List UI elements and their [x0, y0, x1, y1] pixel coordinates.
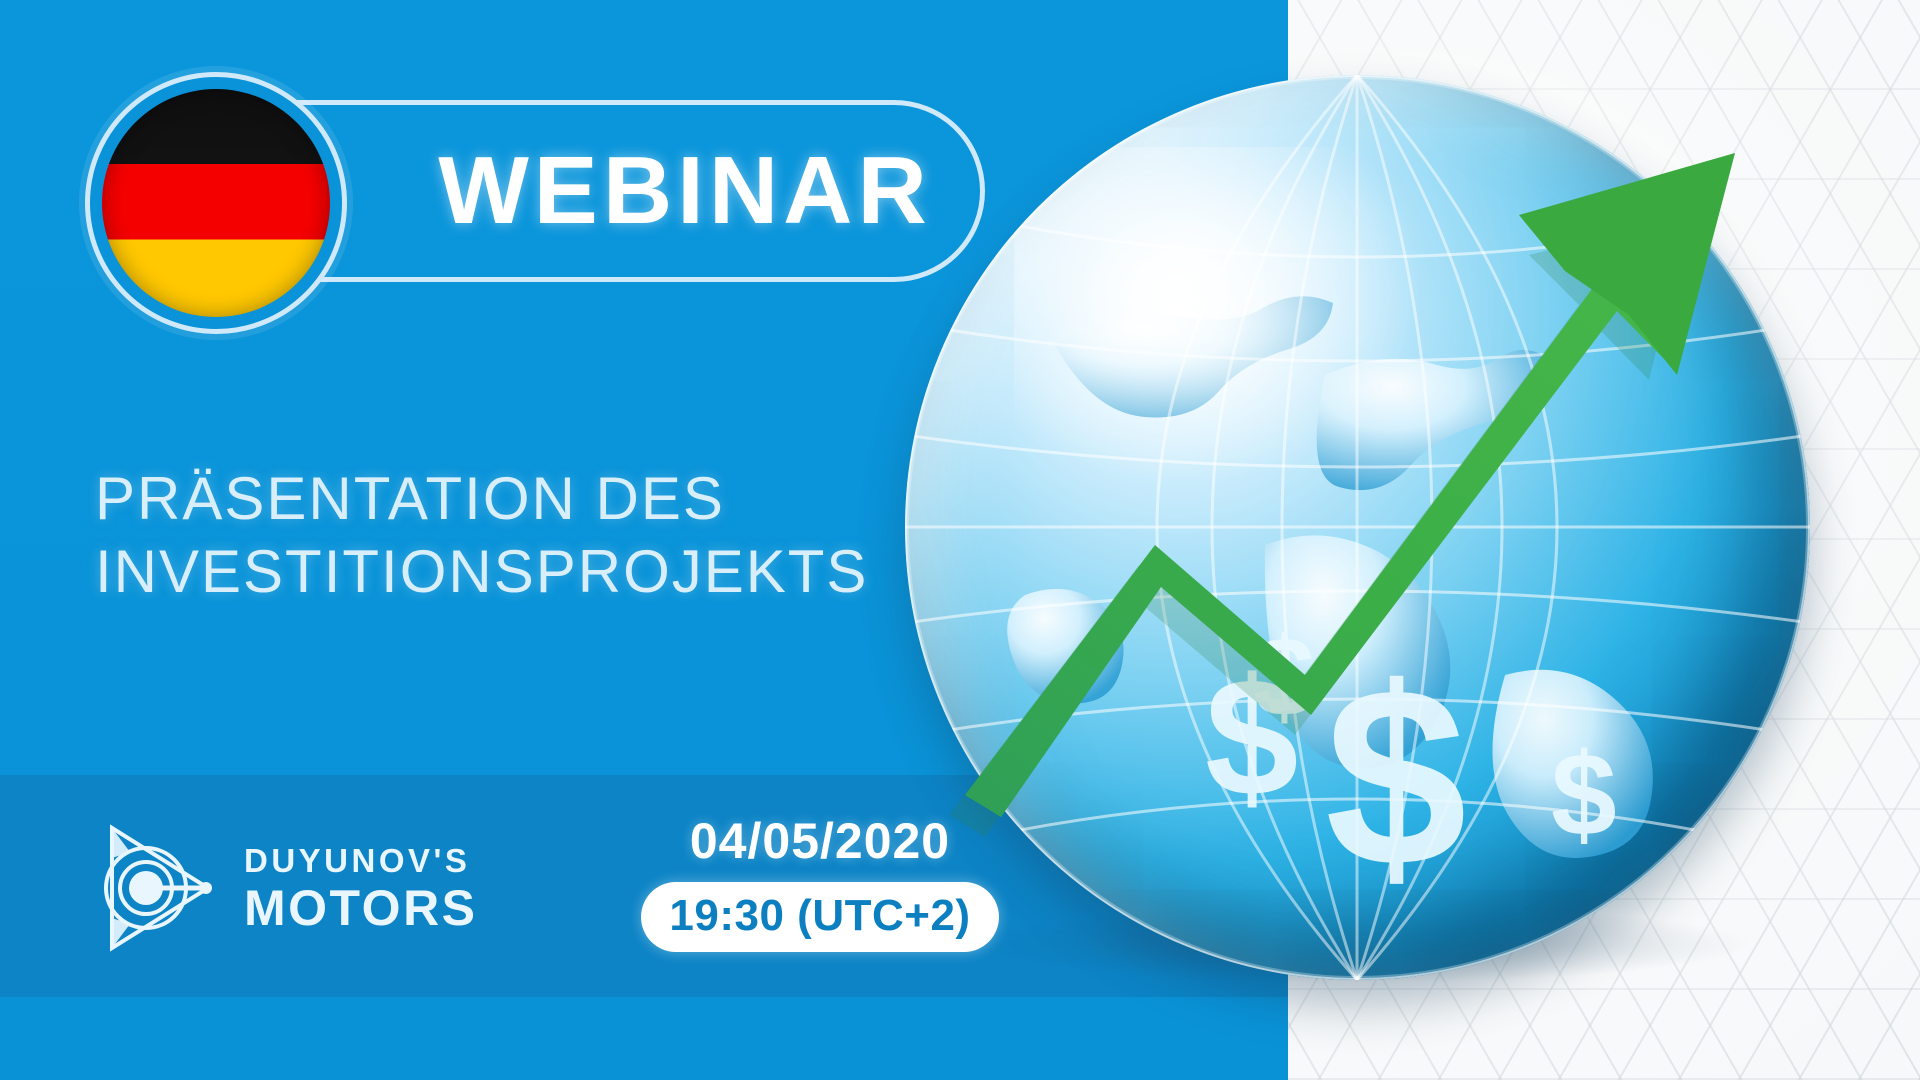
brand-logo: DUYUNOV'S MOTORS [100, 818, 478, 958]
germany-flag-icon [85, 72, 347, 334]
brand-name-bottom: MOTORS [244, 883, 478, 933]
subtitle-line-1: PRÄSENTATION DES [95, 462, 995, 535]
event-datetime: 04/05/2020 19:30 (UTC+2) [640, 812, 1000, 952]
duyunov-motors-emblem [100, 818, 218, 958]
growth-arrow-icon [905, 75, 1850, 1020]
globe-graphic: $ $ $ $ [905, 75, 1850, 1020]
brand-name-top: DUYUNOV'S [244, 844, 478, 877]
event-time-badge: 19:30 (UTC+2) [641, 882, 998, 952]
subtitle: PRÄSENTATION DES INVESTITIONSPROJEKTS [95, 462, 995, 608]
germany-flag-stripes [102, 89, 330, 317]
brand-wordmark: DUYUNOV'S MOTORS [244, 844, 478, 933]
subtitle-line-2: INVESTITIONSPROJEKTS [95, 535, 995, 608]
webinar-banner: $ $ $ $ [0, 0, 1920, 1080]
event-date: 04/05/2020 [640, 812, 1000, 870]
